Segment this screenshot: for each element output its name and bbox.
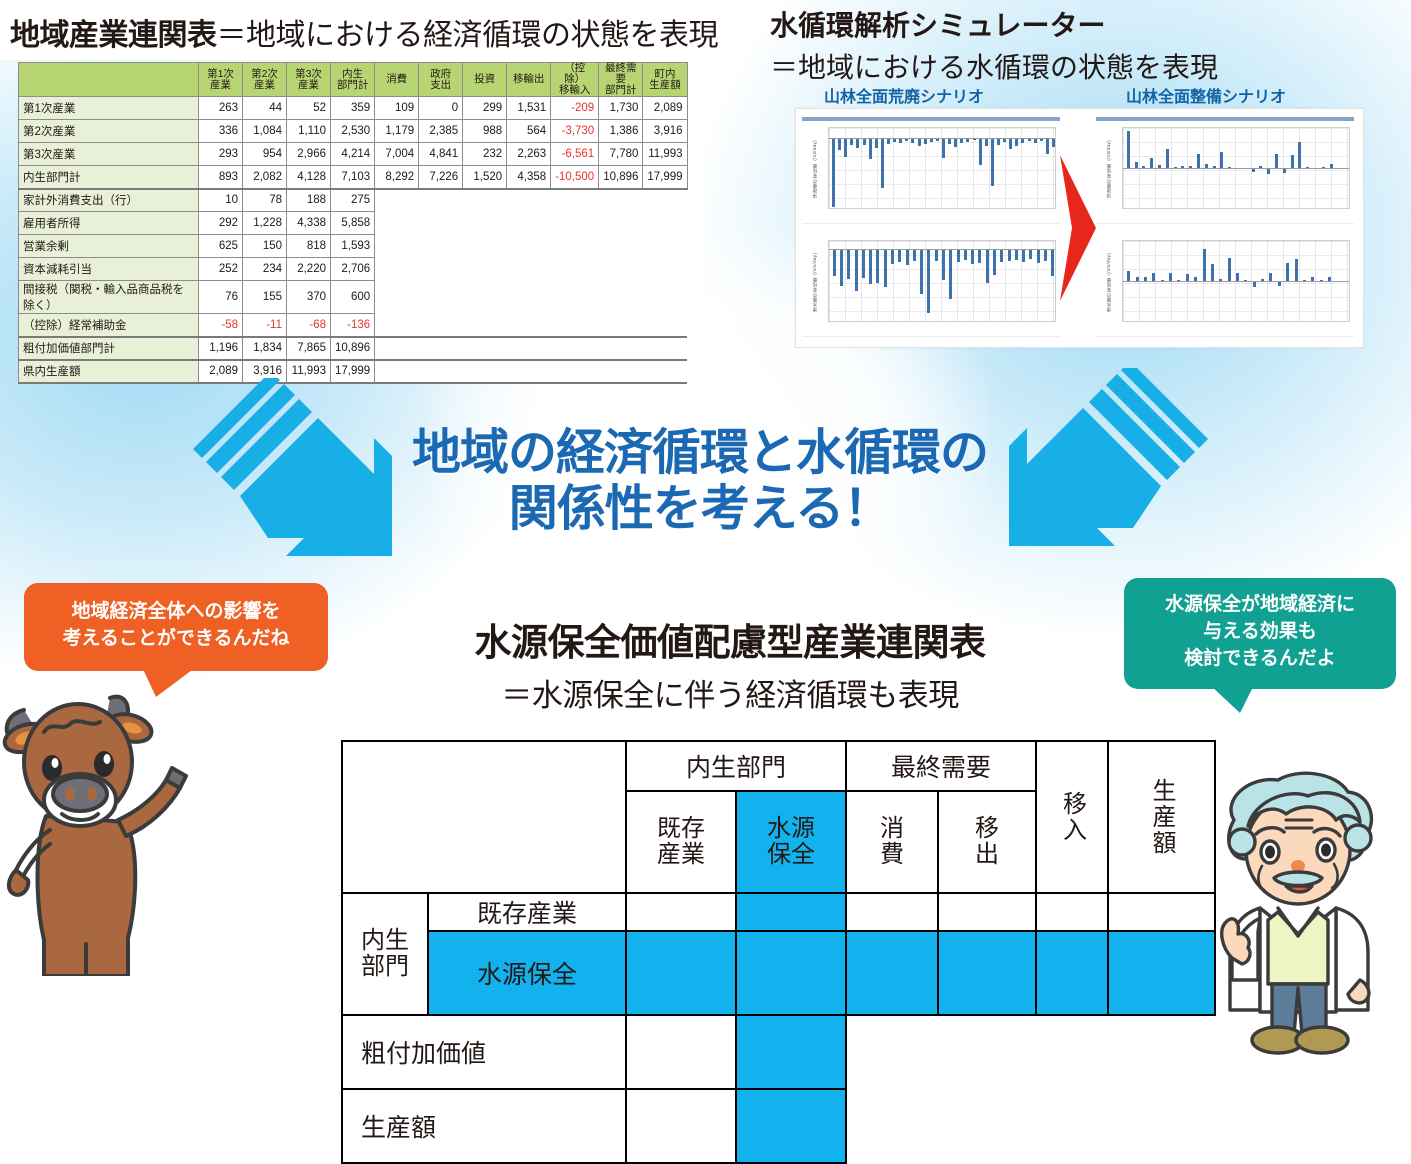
io-cell-empty [419,235,463,258]
io-cell: 0 [419,97,463,120]
io-cell-empty [463,337,507,360]
matrix-rowlabel-output: 生産額 [342,1089,626,1163]
bottom-section-title-sub: ＝水源保全に伴う経済循環も表現 [380,670,1080,715]
speech-bubble-tail [1210,685,1254,713]
chart-bar [1008,249,1011,261]
chart-titlebar [1096,117,1354,121]
chart-bar [884,249,887,287]
left-section-title-bold: 地域産業連関表 [10,19,217,52]
io-cell: 76 [199,281,243,314]
io-cell-empty [507,189,551,212]
io-cell: 625 [199,235,243,258]
chart-bar [1203,249,1206,281]
chart-titlebar [802,117,1060,121]
chart-degraded-springwater: 湧水量の変化量（mm/day） [802,230,1060,337]
chart-bar [906,249,909,265]
chart-bar [1295,259,1298,281]
io-cell: 11,993 [643,143,687,166]
io-cell: 292 [199,212,243,235]
io-cell-empty [419,360,463,383]
chart-bar [1046,138,1049,154]
io-row-label: 内生部門計 [19,166,199,189]
io-cell: 4,128 [287,166,331,189]
chart-bar [918,138,921,146]
chart-bar [1029,249,1032,259]
matrix-empty [1036,1015,1108,1089]
io-cell-empty [419,337,463,360]
io-table-row: 雇用者所得2921,2284,3385,858 [19,212,688,235]
chart-bar [1127,131,1130,168]
io-table-row: 粗付加価値部門計1,1961,8347,86510,896 [19,337,688,360]
chart-bar [1037,249,1040,263]
chart-bar [1197,154,1200,168]
chart-ylabel: 湧水量の変化量（mm/day） [1097,236,1121,326]
io-cell: 2,263 [507,143,551,166]
chart-degraded-infiltration: 浸透量の変化量（m3/day） [802,117,1060,224]
chart-maintained-infiltration: 浸透量の変化量（m3/day） [1096,117,1354,224]
chart-bar [1000,249,1003,262]
chart-bar [850,138,853,145]
io-col-header-10: 町内生産額 [643,63,687,97]
chart-bar [869,138,872,159]
chart-ylabel: 浸透量の変化量（m3/day） [803,123,827,213]
io-cell: 954 [243,143,287,166]
io-cell-empty [551,189,599,212]
matrix-col-consumption: 消費 [846,791,938,893]
io-cell-empty [375,258,419,281]
chart-bar [881,138,884,188]
chart-bar [1152,273,1155,281]
io-cell: 4,214 [331,143,375,166]
chart-ylabel: 湧水量の変化量（mm/day） [803,236,827,326]
chart-bar [1291,155,1294,168]
chart-bar [954,138,957,147]
io-cell-empty [507,258,551,281]
io-cell-empty [599,189,643,212]
chart-bar [838,138,841,150]
io-cell: 52 [287,97,331,120]
io-cell: 2,530 [331,120,375,143]
chart-bar [979,138,982,165]
io-cell: 7,226 [419,166,463,189]
chart-bar [1228,258,1231,281]
io-table-row: 間接税（関税・輸入品商品税を除く）76155370600 [19,281,688,314]
matrix-group-endogenous: 内生部門 [626,741,846,791]
io-cell: 1,520 [463,166,507,189]
chart-plot-area [828,127,1056,209]
io-col-header-0: 第1次産業 [199,63,243,97]
scenario-charts-degraded: 浸透量の変化量（m3/day） 湧水量の変化量（mm/day） [802,117,1060,339]
io-cell: 818 [287,235,331,258]
left-section-title: 地域産業連関表＝地域における経済循環の状態を表現 [10,10,718,54]
io-row-label: 第3次産業 [19,143,199,166]
io-cell-empty [375,281,419,314]
chart-bar [855,249,858,291]
chart-bar [1051,249,1054,276]
io-row-label: 粗付加価値部門計 [19,337,199,360]
io-col-header-5: 政府支出 [419,63,463,97]
io-row-label: （控除）経常補助金 [19,314,199,337]
io-cell-empty [599,235,643,258]
io-col-header-7: 移輸出 [507,63,551,97]
chart-bar [1166,149,1169,168]
io-cell-empty [463,281,507,314]
io-cell: 1,730 [599,97,643,120]
io-table-row: 第3次産業2939542,9664,2147,0044,8412322,263-… [19,143,688,166]
chart-bar [840,249,843,286]
water-value-io-matrix: 内生部門 最終需要 移入 生産額 既存産業 水源保全 消費 移出 内生部門 既存… [341,740,1216,1164]
io-cell-empty [375,314,419,337]
io-cell: 78 [243,189,287,212]
io-row-label: 雇用者所得 [19,212,199,235]
chart-bar [991,138,994,186]
io-cell-empty [551,212,599,235]
io-cell: 263 [199,97,243,120]
io-cell-empty [419,189,463,212]
io-cell-empty [507,360,551,383]
matrix-group-header-row: 内生部門 最終需要 移入 生産額 [342,741,1215,791]
io-table-row: 資本減耗引当2522342,2202,706 [19,258,688,281]
chart-bar [920,249,923,294]
chart-bars [829,128,1055,208]
matrix-empty [1036,1089,1108,1163]
center-headline-line1: 地域の経済循環と水循環の [370,425,1030,481]
io-cell: 299 [463,97,507,120]
right-section-subtitle: ＝地域における水循環の状態を表現 [770,46,1218,86]
chart-bar [1044,249,1047,261]
io-cell: 2,220 [287,258,331,281]
speech-bubble-cow: 地域経済全体への影響を考えることができるんだね [24,583,328,671]
io-col-header-3: 内生部門計 [331,63,375,97]
io-cell: 1,228 [243,212,287,235]
matrix-group-final-demand: 最終需要 [846,741,1036,791]
io-cell: 370 [287,281,331,314]
io-cell-empty [551,314,599,337]
io-cell: 600 [331,281,375,314]
matrix-cell [846,893,938,931]
speech-bubble-doctor: 水源保全が地域経済に与える効果も検討できるんだよ [1124,578,1396,689]
io-cell-empty [375,212,419,235]
chart-bar [1150,158,1153,168]
io-cell-empty [643,189,687,212]
io-cell: 1,084 [243,120,287,143]
water-cycle-simulator-panel: 山林全面荒廃シナリオ 山林全面整備シナリオ 浸透量の変化量（m3/day） 湧水… [795,108,1364,348]
chart-bar [1127,271,1130,281]
io-cell: -11 [243,314,287,337]
bottom-section-title: 水源保全価値配慮型産業連関表 ＝水源保全に伴う経済循環も表現 [380,612,1080,715]
io-cell-empty [551,258,599,281]
doctor-mascot [1182,762,1411,1062]
chart-bar [1275,154,1278,168]
chart-bar [833,249,836,276]
regional-io-table: 第1次産業第2次産業第3次産業内生部門計消費政府支出投資移輸出（控除）移輸入最終… [18,62,688,384]
io-cell: 359 [331,97,375,120]
chart-bar [862,249,865,278]
io-col-header-8: （控除）移輸入 [551,63,599,97]
io-cell: 155 [243,281,287,314]
io-cell: 10,896 [599,166,643,189]
io-cell-empty [643,258,687,281]
chart-bar [986,249,989,283]
chart-bar [847,249,850,279]
chart-bar [957,249,960,262]
io-row-label: 資本減耗引当 [19,258,199,281]
io-cell: 10 [199,189,243,212]
io-cell-empty [551,337,599,360]
io-cell: 150 [243,235,287,258]
io-cell-empty [551,235,599,258]
io-cell: -68 [287,314,331,337]
chart-bar [876,249,879,283]
io-table-head: 第1次産業第2次産業第3次産業内生部門計消費政府支出投資移輸出（控除）移輸入最終… [19,63,688,97]
io-row-label: 県内生産額 [19,360,199,383]
io-cell-empty [375,235,419,258]
chart-bar [891,249,894,264]
io-cell-empty [463,360,507,383]
chart-bar [844,138,847,157]
matrix-corner-cell [342,741,626,893]
chart-zero-line [829,138,1055,139]
io-cell: 44 [243,97,287,120]
chart-bars [829,241,1055,321]
io-cell: 564 [507,120,551,143]
matrix-row-value-added: 粗付加価値 [342,1015,1215,1089]
chart-bar [1009,138,1012,149]
io-row-label: 第2次産業 [19,120,199,143]
matrix-empty [938,1015,1036,1089]
io-cell: 893 [199,166,243,189]
matrix-col-import: 移入 [1036,741,1108,893]
io-table-row: （控除）経常補助金-58-11-68-136 [19,314,688,337]
io-cell-empty [463,258,507,281]
io-cell-empty [463,314,507,337]
io-cell: 2,966 [287,143,331,166]
io-cell-empty [507,235,551,258]
matrix-cell [736,893,846,931]
chart-bar [978,249,981,263]
io-cell: 7,865 [287,337,331,360]
io-cell-empty [599,212,643,235]
io-cell: 7,780 [599,143,643,166]
matrix-rowlabel-water-conservation: 水源保全 [428,931,626,1015]
chart-bar [927,249,930,313]
chart-ylabel: 浸透量の変化量（m3/day） [1097,123,1121,213]
io-cell-empty [419,281,463,314]
matrix-cell [938,893,1036,931]
io-cell-empty [419,314,463,337]
io-cell: 252 [199,258,243,281]
io-table-header-row: 第1次産業第2次産業第3次産業内生部門計消費政府支出投資移輸出（控除）移輸入最終… [19,63,688,97]
io-cell-empty [419,212,463,235]
chart-bar [1022,249,1025,262]
matrix-rowlabel-value-added: 粗付加価値 [342,1015,626,1089]
matrix-cell [1036,931,1108,1015]
io-cell: -209 [551,97,599,120]
io-cell-empty [375,189,419,212]
io-row-label: 営業余剰 [19,235,199,258]
matrix-cell [626,1015,736,1089]
chart-bar [971,249,974,264]
io-cell: 336 [199,120,243,143]
io-cell: 1,834 [243,337,287,360]
io-col-header-6: 投資 [463,63,507,97]
chart-bar [935,249,938,261]
right-section-title: 水循環解析シミュレーター [770,4,1105,44]
io-cell: 8,292 [375,166,419,189]
io-cell: 10,896 [331,337,375,360]
chart-bar [993,249,996,275]
scenario-label-degraded: 山林全面荒廃シナリオ [824,83,984,107]
io-row-label: 家計外消費支出（行） [19,189,199,212]
bottom-section-title-main: 水源保全価値配慮型産業連関表 [380,612,1080,666]
chart-bar [942,138,945,158]
io-table-row: 家計外消費支出（行）1078188275 [19,189,688,212]
flow-arrow-right-icon [998,368,1223,563]
chart-bar [1015,249,1018,260]
io-cell-empty [551,281,599,314]
io-col-header-1: 第2次産業 [243,63,287,97]
scenario-charts-maintained: 浸透量の変化量（m3/day） 湧水量の変化量（mm/day） [1096,117,1354,339]
matrix-col-water-conservation: 水源保全 [736,791,846,893]
io-cell: 109 [375,97,419,120]
matrix-cell [846,931,938,1015]
io-table-row: 内生部門計8932,0824,1287,1038,2927,2261,5204,… [19,166,688,189]
io-cell-empty [507,212,551,235]
chart-bar [964,249,967,260]
matrix-rowgroup-endogenous: 内生部門 [342,893,428,1015]
io-cell-empty [643,212,687,235]
io-cell: 1,531 [507,97,551,120]
scenario-label-maintained: 山林全面整備シナリオ [1126,83,1286,107]
chart-bar [1286,263,1289,281]
io-cell: 4,338 [287,212,331,235]
chart-plot-area [828,240,1056,322]
io-cell: 2,385 [419,120,463,143]
io-row-label: 間接税（関税・輸入品商品税を除く） [19,281,199,314]
io-cell: 4,358 [507,166,551,189]
matrix-cell [938,931,1036,1015]
matrix-row-output: 生産額 [342,1089,1215,1163]
chart-bar [1269,273,1272,281]
io-cell: 7,004 [375,143,419,166]
speech-bubble-doctor-text: 水源保全が地域経済に与える効果も検討できるんだよ [1165,594,1355,669]
io-col-header-2: 第3次産業 [287,63,331,97]
chart-bar [942,249,945,280]
chart-bar [832,138,835,207]
matrix-cell [736,931,846,1015]
chart-bar [1186,274,1189,281]
chart-zero-line [1123,281,1349,282]
chart-bar [949,249,952,299]
io-table-corner-cell [19,63,199,97]
io-cell-empty [643,281,687,314]
io-table-row: 営業余剰6251508181,593 [19,235,688,258]
io-cell: 2,082 [243,166,287,189]
cow-mascot [0,676,236,976]
io-cell: 234 [243,258,287,281]
io-row-label: 第1次産業 [19,97,199,120]
io-cell: 275 [331,189,375,212]
io-cell: -10,500 [551,166,599,189]
chart-plot-area [1122,240,1350,322]
io-cell-empty [599,258,643,281]
chart-maintained-springwater: 湧水量の変化量（mm/day） [1096,230,1354,337]
io-cell-empty [643,337,687,360]
io-cell: 17,999 [643,166,687,189]
matrix-cell [626,893,736,931]
matrix-row-water-conservation: 水源保全 [342,931,1215,1015]
left-section-title-rest: ＝地域における経済循環の状態を表現 [217,19,719,52]
matrix-body: 内生部門 最終需要 移入 生産額 既存産業 水源保全 消費 移出 内生部門 既存… [342,741,1215,1163]
matrix-empty [846,1015,938,1089]
io-cell: 2,089 [643,97,687,120]
chart-zero-line [1123,168,1349,169]
io-cell-empty [375,337,419,360]
io-cell: 1,110 [287,120,331,143]
io-cell-empty [599,281,643,314]
io-cell: 1,196 [199,337,243,360]
io-cell-empty [419,258,463,281]
io-cell-empty [463,212,507,235]
io-cell-empty [507,314,551,337]
io-cell: 2,706 [331,258,375,281]
chart-bar [869,249,872,284]
io-cell: 1,179 [375,120,419,143]
io-cell: -6,561 [551,143,599,166]
matrix-col-existing-industry: 既存産業 [626,791,736,893]
chart-bar [1298,142,1301,168]
io-cell-empty [599,314,643,337]
io-cell: 232 [463,143,507,166]
io-cell: 4,841 [419,143,463,166]
io-cell: 1,386 [599,120,643,143]
io-cell: -3,730 [551,120,599,143]
io-cell-empty [551,360,599,383]
io-cell: 5,858 [331,212,375,235]
io-cell-empty [463,189,507,212]
center-headline: 地域の経済循環と水循環の 関係性を考える！ [370,425,1030,538]
chart-bar [875,138,878,148]
matrix-empty [938,1089,1036,1163]
chart-bar [1211,264,1214,281]
chart-bar [1236,273,1239,281]
io-cell: 988 [463,120,507,143]
matrix-cell [736,1015,846,1089]
io-cell-empty [599,360,643,383]
io-cell-empty [643,360,687,383]
matrix-col-export: 移出 [938,791,1036,893]
chart-bar [1052,138,1055,147]
io-cell-empty [643,235,687,258]
io-cell: -136 [331,314,375,337]
io-cell: 188 [287,189,331,212]
io-cell-empty [599,337,643,360]
io-cell-empty [643,314,687,337]
chart-bar [856,138,859,148]
io-col-header-9: 最終需要部門計 [599,63,643,97]
io-cell-empty [463,235,507,258]
scenario-transition-arrow-icon [1058,153,1096,303]
chart-bar [1015,138,1018,146]
io-col-header-4: 消費 [375,63,419,97]
io-table-row: 第1次産業263445235910902991,531-2091,7302,08… [19,97,688,120]
io-cell: 7,103 [331,166,375,189]
matrix-cell [736,1089,846,1163]
matrix-empty [846,1089,938,1163]
io-cell-empty [507,337,551,360]
io-table-body: 第1次産業263445235910902991,531-2091,7302,08… [19,97,688,383]
io-cell: 3,916 [643,120,687,143]
